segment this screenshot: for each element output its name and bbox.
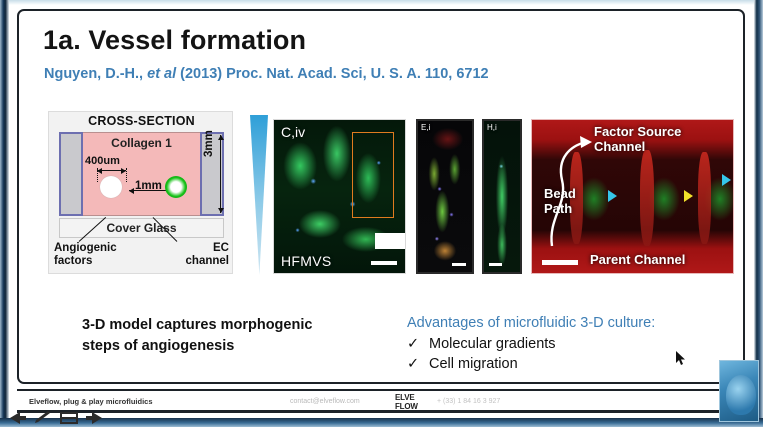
- micrograph-panel-ei: E,i: [416, 119, 474, 274]
- check-icon: ✓: [407, 336, 429, 352]
- cyan-arrowhead-1: [608, 190, 617, 202]
- yellow-arrowhead: [684, 190, 693, 202]
- list-item: ✓Cell migration: [407, 356, 556, 372]
- height-arrow: [220, 135, 221, 213]
- panel-civ-label: C,iv: [281, 124, 305, 140]
- angiogenic-factor-channel: [100, 176, 122, 198]
- ec-channel-line2: channel: [177, 255, 229, 268]
- panel-ei-label: E,i: [421, 123, 430, 132]
- previous-slide-button[interactable]: [6, 411, 28, 425]
- scale-bar-ei: [452, 263, 466, 266]
- panel-hi-label: H,i: [487, 123, 497, 132]
- advantages-list: ✓Molecular gradients ✓Cell migration: [407, 336, 556, 376]
- cyan-arrowhead-2: [722, 174, 731, 186]
- slide-menu-button[interactable]: [58, 411, 80, 425]
- orange-roi-box: [352, 132, 394, 218]
- bead-path-arrow: [546, 130, 592, 248]
- height-dimension-label: 3mm: [203, 130, 215, 157]
- micrograph-panel-civ: C,iv HFMVS: [273, 119, 406, 274]
- list-item: ✓Molecular gradients: [407, 336, 556, 352]
- advantages-heading: Advantages of microfluidic 3-D culture:: [407, 315, 655, 331]
- elveflow-logo: ELVE FLOW: [395, 394, 418, 411]
- presentation-slide: 1a. Vessel formation Nguyen, D.-H., et a…: [17, 9, 745, 384]
- ec-channel-line1: EC: [177, 242, 229, 255]
- speaker-silhouette: [726, 375, 756, 415]
- angiogenic-factors-line1: Angiogenic: [54, 242, 117, 255]
- conclusion-line1: 3-D model captures morphogenic: [82, 315, 352, 336]
- footer-email: contact@elveflow.com: [290, 398, 360, 405]
- factor-source-channel-label: Factor Source Channel: [594, 124, 733, 154]
- angiogenic-factors-line2: factors: [54, 255, 117, 268]
- player-top-edge: [0, 0, 763, 5]
- panel-civ-sublabel: HFMVS: [281, 253, 332, 269]
- ec-channel-circle: [165, 176, 187, 198]
- citation-authors: Nguyen, D.-H.,: [44, 66, 147, 82]
- next-slide-button[interactable]: [84, 411, 106, 425]
- vessel-sprout-3: [698, 152, 711, 244]
- width-arrow: [97, 170, 126, 171]
- player-left-edge: [0, 0, 9, 427]
- ec-channel-label: EC channel: [177, 242, 229, 267]
- width-dimension-label: 400um: [85, 155, 120, 167]
- micrograph-panel-channels: Factor Source Channel Parent Channel Bea…: [531, 119, 734, 274]
- pen-annotate-button[interactable]: [32, 411, 54, 425]
- video-player-viewport: 1a. Vessel formation Nguyen, D.-H., et a…: [0, 0, 763, 427]
- advantages-item-0: Molecular gradients: [429, 336, 556, 352]
- mouse-cursor: [676, 351, 686, 366]
- footer-tagline: Elveflow, plug & play microfluidics: [29, 397, 153, 406]
- cross-section-figure: CROSS-SECTION Collagen 1 400um 1mm 3mm C…: [48, 111, 233, 274]
- footer-phone: + (33) 1 84 16 3 927: [437, 398, 500, 405]
- micrograph-panel-hi: H,i: [482, 119, 522, 274]
- check-icon: ✓: [407, 356, 429, 372]
- slide-title: 1a. Vessel formation: [43, 25, 306, 56]
- speaker-webcam-thumbnail[interactable]: [719, 360, 759, 422]
- cross-section-heading: CROSS-SECTION: [49, 114, 234, 128]
- advantages-item-1: Cell migration: [429, 356, 518, 372]
- dimension-guide-right: [126, 168, 127, 182]
- parent-channel-label: Parent Channel: [590, 252, 685, 267]
- angiogenic-factors-label: Angiogenic factors: [54, 242, 117, 267]
- inset-white-block-civ: [375, 233, 405, 249]
- conclusion-line2: steps of angiogenesis: [82, 336, 352, 357]
- slide-citation: Nguyen, D.-H., et al (2013) Proc. Nat. A…: [44, 66, 489, 82]
- citation-etal: et al: [147, 66, 176, 82]
- slide-footer-bar: Elveflow, plug & play microfluidics cont…: [17, 389, 745, 413]
- vessel-sprout-2: [640, 150, 654, 246]
- scale-bar-hi: [489, 263, 502, 266]
- citation-rest: (2013) Proc. Nat. Acad. Sci, U. S. A. 11…: [176, 66, 488, 82]
- blue-wedge-graphic: [250, 115, 268, 275]
- scale-bar-channels: [542, 260, 578, 265]
- scale-bar-civ: [371, 261, 397, 265]
- player-bottom-edge: [0, 418, 763, 427]
- conclusion-text: 3-D model captures morphogenic steps of …: [82, 315, 352, 357]
- logo-line2: FLOW: [395, 403, 418, 412]
